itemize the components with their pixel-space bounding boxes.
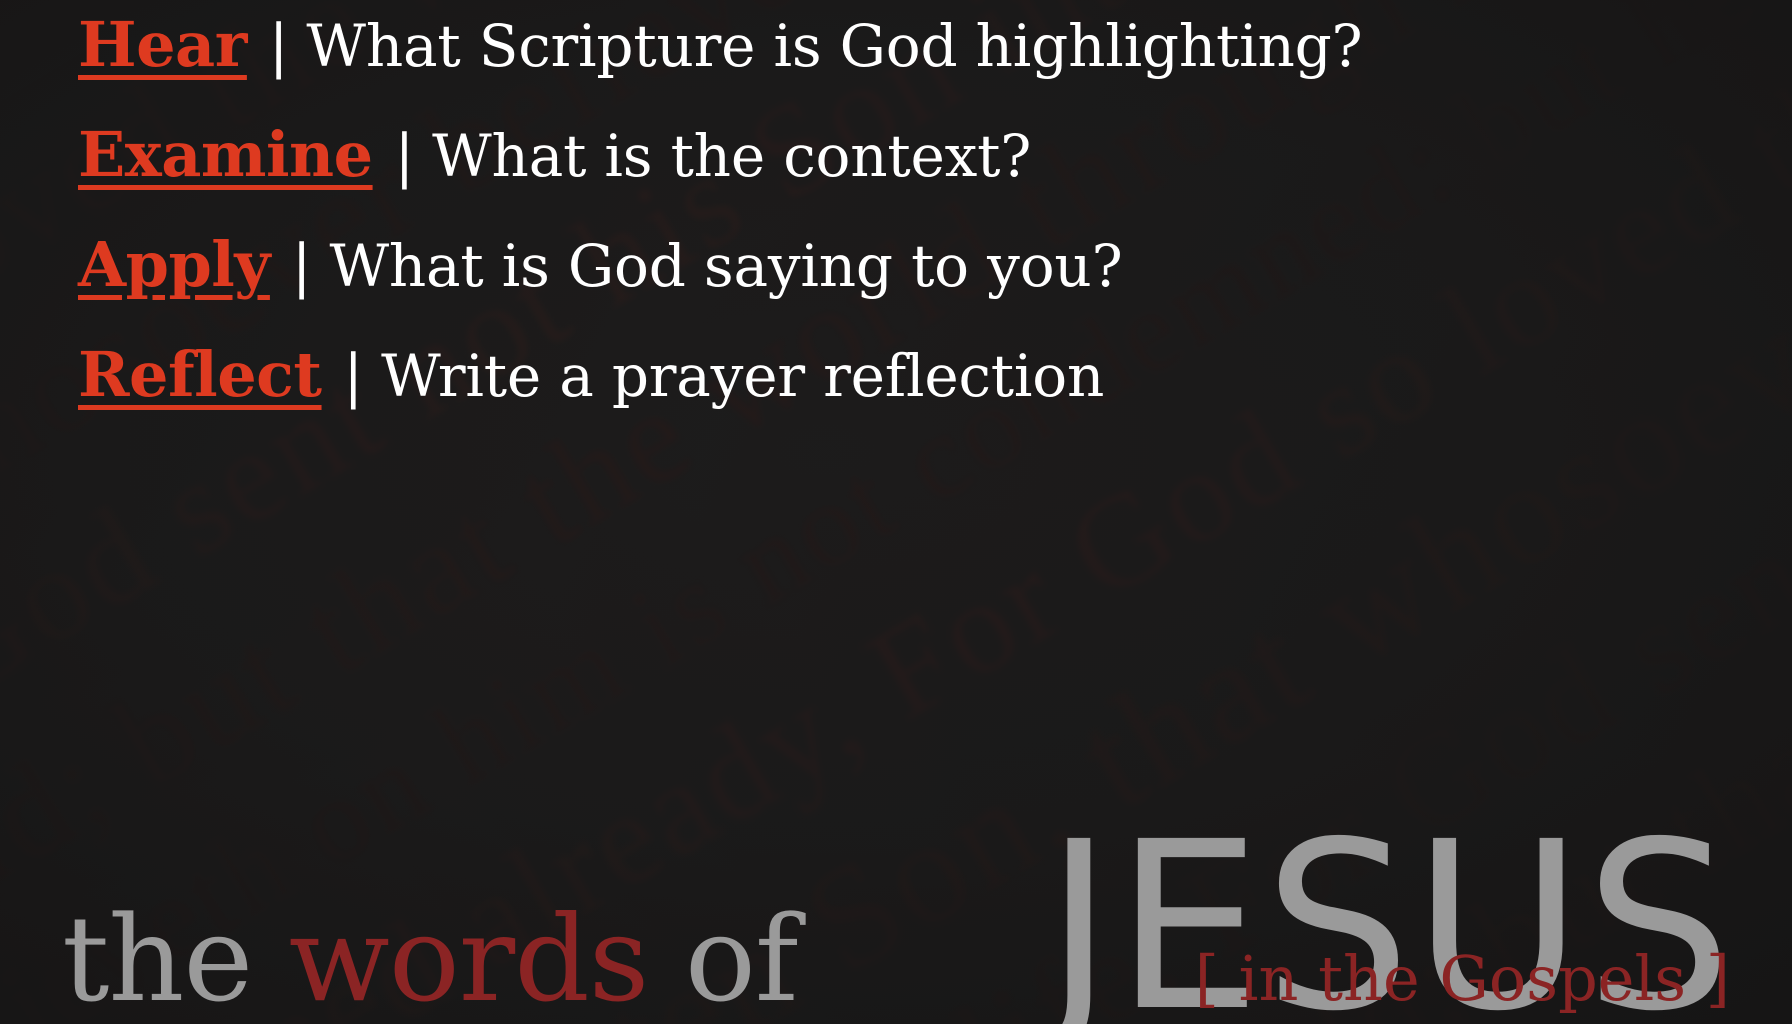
prompt-separator: | bbox=[395, 122, 415, 190]
prompt-list: Hear | What Scripture is God highlightin… bbox=[78, 8, 1718, 448]
series-title-lockup: the words of JESUS [ in the Gospels ] bbox=[0, 584, 1792, 1024]
prompt-question-examine: What is the context? bbox=[432, 122, 1031, 190]
wordmark-of: of bbox=[685, 890, 798, 1024]
prompt-separator: | bbox=[344, 342, 364, 410]
prompt-question-reflect: Write a prayer reflection bbox=[381, 342, 1104, 410]
prompt-key-examine: Examine bbox=[78, 118, 373, 191]
prompt-key-reflect: Reflect bbox=[78, 338, 322, 411]
prompt-row-apply: Apply | What is God saying to you? bbox=[78, 228, 1718, 338]
wordmark-words: words bbox=[289, 890, 649, 1024]
prompt-question-hear: What Scripture is God highlighting? bbox=[306, 12, 1362, 80]
wordmark-the: the bbox=[62, 890, 252, 1024]
wordmark-the-words-of: the words of bbox=[62, 900, 798, 1018]
prompt-key-apply: Apply bbox=[78, 228, 270, 301]
prompt-key-hear: Hear bbox=[78, 8, 247, 81]
prompt-separator: | bbox=[269, 12, 289, 80]
prompt-row-reflect: Reflect | Write a prayer reflection bbox=[78, 338, 1718, 448]
slide-canvas: For God so loved the world, that he gave… bbox=[0, 0, 1792, 1024]
slide-content: Hear | What Scripture is God highlightin… bbox=[0, 0, 1792, 1024]
prompt-row-examine: Examine | What is the context? bbox=[78, 118, 1718, 228]
wordmark-subtitle: [ in the Gospels ] bbox=[1195, 948, 1730, 1010]
prompt-question-apply: What is God saying to you? bbox=[329, 232, 1122, 300]
prompt-separator: | bbox=[292, 232, 312, 300]
prompt-row-hear: Hear | What Scripture is God highlightin… bbox=[78, 8, 1718, 118]
